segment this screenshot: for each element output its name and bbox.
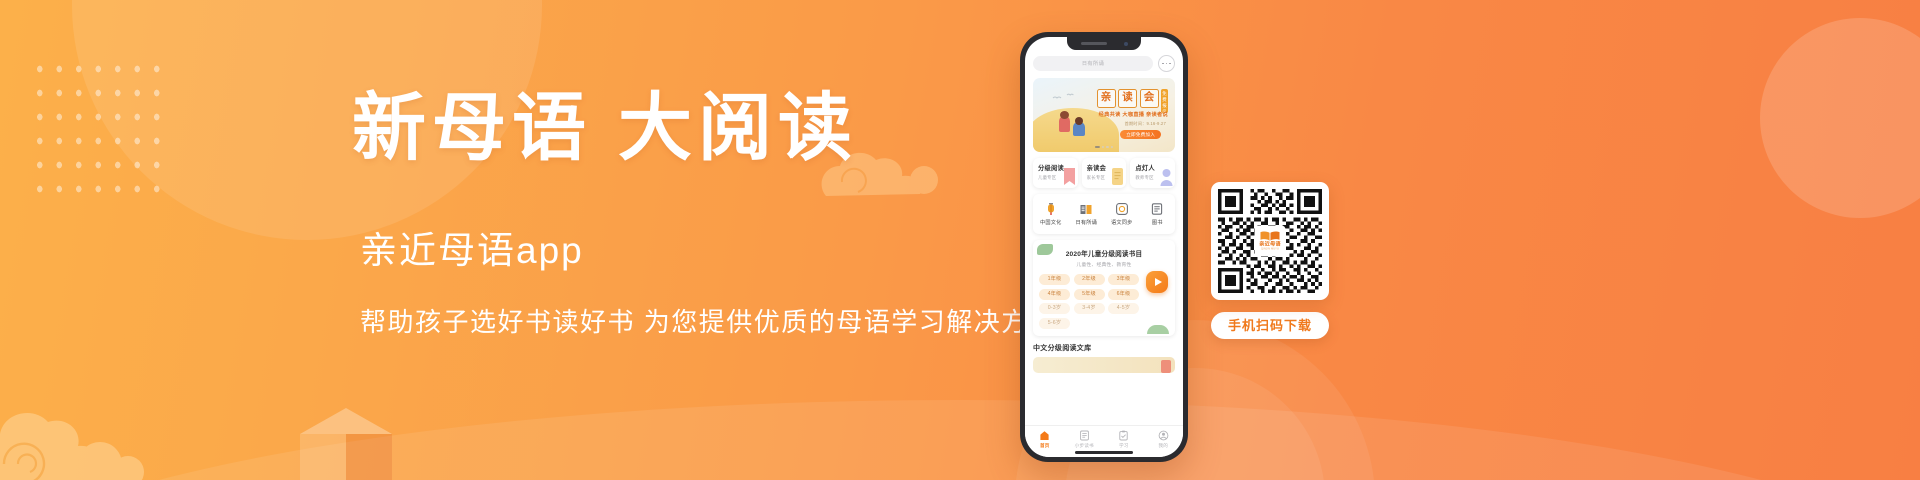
clipboard-icon: [1118, 430, 1129, 441]
reading-icon: [1079, 430, 1090, 441]
qr-block: 亲近母语 QINJIN MUYU 手机扫码下载: [1211, 182, 1329, 339]
decorative-circle-top-right: [1760, 18, 1920, 218]
tab-study[interactable]: 学习: [1108, 430, 1140, 449]
library-section-title: 中文分级阅读文库: [1033, 343, 1175, 353]
more-options-icon[interactable]: [1158, 55, 1175, 72]
home-indicator: [1075, 451, 1133, 454]
grade-chip[interactable]: 1年级: [1039, 274, 1070, 285]
tab-label: 小步读书: [1075, 443, 1094, 449]
camera-icon: [1124, 42, 1128, 46]
user-icon: [1158, 430, 1169, 441]
qr-code-card[interactable]: 亲近母语 QINJIN MUYU: [1211, 182, 1329, 300]
home-icon: [1039, 430, 1050, 441]
library-preview-strip[interactable]: [1033, 357, 1175, 373]
quick-entry-row: 中国文化 日有所诵: [1033, 194, 1175, 234]
age-chip[interactable]: 0-3岁: [1039, 303, 1070, 314]
play-icon: [1155, 278, 1162, 286]
age-chip[interactable]: 5-6岁: [1039, 318, 1070, 329]
tagline: 帮助孩子选好书读好书 为您提供优质的母语学习解决方案: [360, 309, 1052, 335]
tab-label: 我的: [1158, 443, 1168, 449]
grade-chip[interactable]: 6年级: [1108, 289, 1139, 300]
grade-chip[interactable]: 3年级: [1108, 274, 1139, 285]
hero-title: 亲 读 会 免费报名: [1097, 89, 1169, 113]
bookmark-icon: [1063, 167, 1076, 186]
video-play-button[interactable]: [1146, 271, 1168, 293]
grade-chip[interactable]: 2年级: [1074, 274, 1105, 285]
tab-home[interactable]: 首页: [1029, 430, 1061, 449]
search-input[interactable]: 日有所诵: [1033, 56, 1153, 71]
quick-entry-chinese-culture[interactable]: 中国文化: [1036, 202, 1066, 226]
tab-reading[interactable]: 小步读书: [1068, 430, 1100, 449]
hero-date: 首期时间：9.16-9.27: [1125, 121, 1166, 127]
qr-logo-pinyin: QINJIN MUYU: [1261, 249, 1279, 252]
app-hero-banner[interactable]: 亲 读 会 免费报名 经典共读 大咖直播 亲读者说 首期时间：9.16-9.27…: [1033, 78, 1175, 152]
decorative-cloud-bottom-left: [0, 372, 200, 480]
phone-notch: [1067, 37, 1141, 50]
grade-chip[interactable]: 4年级: [1039, 289, 1070, 300]
hero-char-3: 会: [1140, 89, 1159, 108]
hero-char-1: 亲: [1097, 89, 1116, 108]
note-icon: [1111, 167, 1124, 186]
tab-label: 学习: [1119, 443, 1129, 449]
hero-side-tag: 免费报名: [1161, 89, 1168, 113]
age-chip[interactable]: 3-4岁: [1074, 303, 1105, 314]
headline-part-2: 大阅读: [618, 88, 858, 170]
booklist-title: 2020年儿童分级阅读书目: [1039, 248, 1169, 258]
copy-block: 新母语大阅读 亲近母语app 帮助孩子选好书读好书 为您提供优质的母语学习解决方…: [352, 92, 1052, 335]
app-search-bar[interactable]: 日有所诵: [1033, 55, 1175, 72]
phone-screen: 日有所诵 亲 读 会 免费报名: [1025, 37, 1183, 457]
headline-part-1: 新母语: [352, 88, 592, 170]
hero-subtitle: 经典共读 大咖直播 亲读者说: [1099, 111, 1168, 118]
hero-child-1: [1059, 116, 1070, 132]
library-book-thumb: [1161, 360, 1171, 373]
quick-entry-daily-recitation[interactable]: 日有所诵: [1071, 202, 1101, 226]
decorative-dot-grid: [28, 55, 168, 205]
decorative-arc: [0, 400, 1920, 480]
quick-entry-books[interactable]: 图书: [1142, 202, 1172, 226]
quick-entry-label: 图书: [1152, 219, 1163, 226]
category-card-graded-reading[interactable]: 分级阅读 儿童专区: [1033, 158, 1078, 188]
download-button[interactable]: 手机扫码下载: [1211, 312, 1329, 339]
tab-profile[interactable]: 我的: [1147, 430, 1179, 449]
speaker-icon: [1081, 42, 1107, 45]
grade-chip[interactable]: 5年级: [1074, 289, 1105, 300]
book-open-icon: [1079, 202, 1093, 216]
category-card-parent-club[interactable]: 亲读会 家长专区: [1082, 158, 1127, 188]
person-icon: [1160, 167, 1173, 186]
lantern-icon: [1044, 202, 1058, 216]
hero-join-button[interactable]: 立即免费加入: [1120, 130, 1161, 139]
tab-label: 首页: [1040, 443, 1050, 449]
quick-entry-label: 日有所诵: [1075, 219, 1097, 226]
quick-entry-textbook-sync[interactable]: 语文同步: [1107, 202, 1137, 226]
category-card-row: 分级阅读 儿童专区 亲读会 家长专区: [1033, 158, 1175, 188]
booklist-subtitle: 儿童性、经典性、教育性: [1039, 261, 1169, 268]
books-icon: [1150, 202, 1164, 216]
page-title: 新母语大阅读: [352, 92, 1052, 166]
hero-child-2: [1073, 122, 1085, 136]
quick-entry-label: 中国文化: [1040, 219, 1062, 226]
hero-char-2: 读: [1118, 89, 1137, 108]
quick-entry-label: 语文同步: [1111, 219, 1133, 226]
booklist-section: 2020年儿童分级阅读书目 儿童性、经典性、教育性 1年级 2年级 3年级 4年…: [1033, 240, 1175, 336]
promo-banner: 新母语大阅读 亲近母语app 帮助孩子选好书读好书 为您提供优质的母语学习解决方…: [0, 0, 1920, 480]
leaf-decoration: [1037, 244, 1053, 255]
open-book-icon: [1260, 231, 1281, 242]
carousel-dots[interactable]: [1095, 146, 1113, 148]
birds-icon: [1051, 92, 1081, 104]
phone-mockup: 日有所诵 亲 读 会 免费报名: [1020, 32, 1188, 462]
category-card-teacher[interactable]: 点灯人 教师专区: [1130, 158, 1175, 188]
age-chip[interactable]: 4-5岁: [1108, 303, 1139, 314]
app-name: 亲近母语app: [360, 232, 1052, 269]
qr-center-logo: 亲近母语 QINJIN MUYU: [1255, 226, 1286, 257]
sync-icon: [1115, 202, 1129, 216]
